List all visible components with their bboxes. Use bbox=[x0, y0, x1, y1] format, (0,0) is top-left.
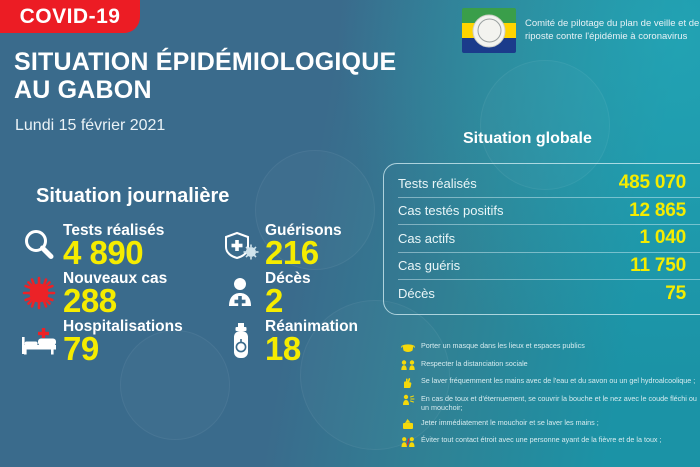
global-value: 11 750 bbox=[630, 255, 700, 277]
gabon-flag-icon bbox=[462, 8, 516, 53]
global-value: 75 bbox=[665, 283, 700, 305]
daily-stats-grid: Tests réalisés 4 890 bbox=[6, 222, 380, 366]
tip-text: Respecter la distanciation sociale bbox=[421, 359, 528, 369]
wash-hands-icon bbox=[400, 376, 415, 389]
global-row: Cas actifs 1 040 bbox=[398, 225, 700, 253]
stat-hospitalisations: Hospitalisations 79 bbox=[6, 318, 218, 366]
global-label: Cas testés positifs bbox=[398, 203, 504, 218]
hospital-bed-icon bbox=[16, 318, 62, 364]
no-contact-icon bbox=[400, 435, 415, 448]
tip-item: Se laver fréquemment les mains avec de l… bbox=[400, 376, 700, 389]
person-cross-icon bbox=[218, 270, 264, 316]
tip-text: En cas de toux et d'éternuement, se couv… bbox=[421, 394, 700, 414]
tip-item: Jeter immédiatement le mouchoir et se la… bbox=[400, 418, 700, 431]
gabon-emblem-icon bbox=[473, 14, 506, 47]
stat-tests-realises: Tests réalisés 4 890 bbox=[6, 222, 218, 270]
stat-value: 4 890 bbox=[63, 236, 164, 270]
covid-badge-label: COVID-19 bbox=[20, 5, 121, 29]
stat-value: 18 bbox=[265, 332, 358, 366]
tip-item: Éviter tout contact étroit avec une pers… bbox=[400, 435, 700, 448]
tip-text: Jeter immédiatement le mouchoir et se la… bbox=[421, 418, 599, 428]
global-stats-panel: Tests réalisés 485 070 Cas testés positi… bbox=[383, 163, 700, 315]
global-value: 12 865 bbox=[629, 200, 700, 222]
mask-icon bbox=[400, 341, 415, 354]
global-value: 485 070 bbox=[619, 172, 700, 194]
covid-badge: COVID-19 bbox=[0, 0, 140, 33]
shield-plus-icon bbox=[218, 222, 264, 268]
stat-deces: Décès 2 bbox=[218, 270, 378, 318]
tip-text: Se laver fréquemment les mains avec de l… bbox=[421, 376, 695, 386]
tip-item: En cas de toux et d'éternuement, se couv… bbox=[400, 394, 700, 414]
report-date: Lundi 15 février 2021 bbox=[15, 117, 165, 135]
global-label: Décès bbox=[398, 286, 435, 301]
stat-value: 2 bbox=[265, 284, 311, 318]
page-title: SITUATION ÉPIDÉMIOLOGIQUE AU GABON bbox=[14, 48, 396, 105]
tip-text: Porter un masque dans les lieux et espac… bbox=[421, 341, 585, 351]
daily-section-heading: Situation journalière bbox=[36, 185, 229, 208]
daily-stats-row: Nouveaux cas 288 Décès 2 bbox=[6, 270, 380, 318]
daily-stats-row: Hospitalisations 79 Réanimation 1 bbox=[6, 318, 380, 366]
global-row: Décès 75 bbox=[398, 280, 700, 308]
tip-item: Respecter la distanciation sociale bbox=[400, 359, 700, 372]
global-label: Tests réalisés bbox=[398, 176, 477, 191]
global-label: Cas actifs bbox=[398, 231, 455, 246]
global-row: Cas testés positifs 12 865 bbox=[398, 198, 700, 226]
stat-reanimation: Réanimation 18 bbox=[218, 318, 378, 366]
global-row: Tests réalisés 485 070 bbox=[398, 170, 700, 198]
tip-item: Porter un masque dans les lieux et espac… bbox=[400, 341, 700, 354]
global-section-heading: Situation globale bbox=[463, 130, 592, 148]
stat-value: 216 bbox=[265, 236, 342, 270]
oxygen-tank-icon bbox=[218, 318, 264, 364]
cough-icon bbox=[400, 394, 415, 407]
global-value: 1 040 bbox=[639, 227, 700, 249]
virus-icon bbox=[16, 270, 62, 316]
tissue-icon bbox=[400, 418, 415, 431]
committee-name: Comité de pilotage du plan de veille et … bbox=[525, 18, 700, 43]
infographic-root: COVID-19 SITUATION ÉPIDÉMIOLOGIQUE AU GA… bbox=[0, 0, 700, 467]
page-title-line2: AU GABON bbox=[14, 76, 396, 104]
global-row: Cas guéris 11 750 bbox=[398, 253, 700, 281]
stat-guerisons: Guérisons 216 bbox=[218, 222, 378, 270]
stat-value: 79 bbox=[63, 332, 183, 366]
committee-logo: Comité de pilotage du plan de veille et … bbox=[462, 8, 700, 53]
page-title-line1: SITUATION ÉPIDÉMIOLOGIQUE bbox=[14, 48, 396, 76]
prevention-tips-list: Porter un masque dans les lieux et espac… bbox=[400, 341, 700, 453]
daily-stats-row: Tests réalisés 4 890 bbox=[6, 222, 380, 270]
tip-text: Éviter tout contact étroit avec une pers… bbox=[421, 435, 662, 445]
stat-nouveaux-cas: Nouveaux cas 288 bbox=[6, 270, 218, 318]
stat-value: 288 bbox=[63, 284, 167, 318]
magnifier-icon bbox=[16, 222, 62, 268]
global-label: Cas guéris bbox=[398, 258, 460, 273]
distance-icon bbox=[400, 359, 415, 372]
